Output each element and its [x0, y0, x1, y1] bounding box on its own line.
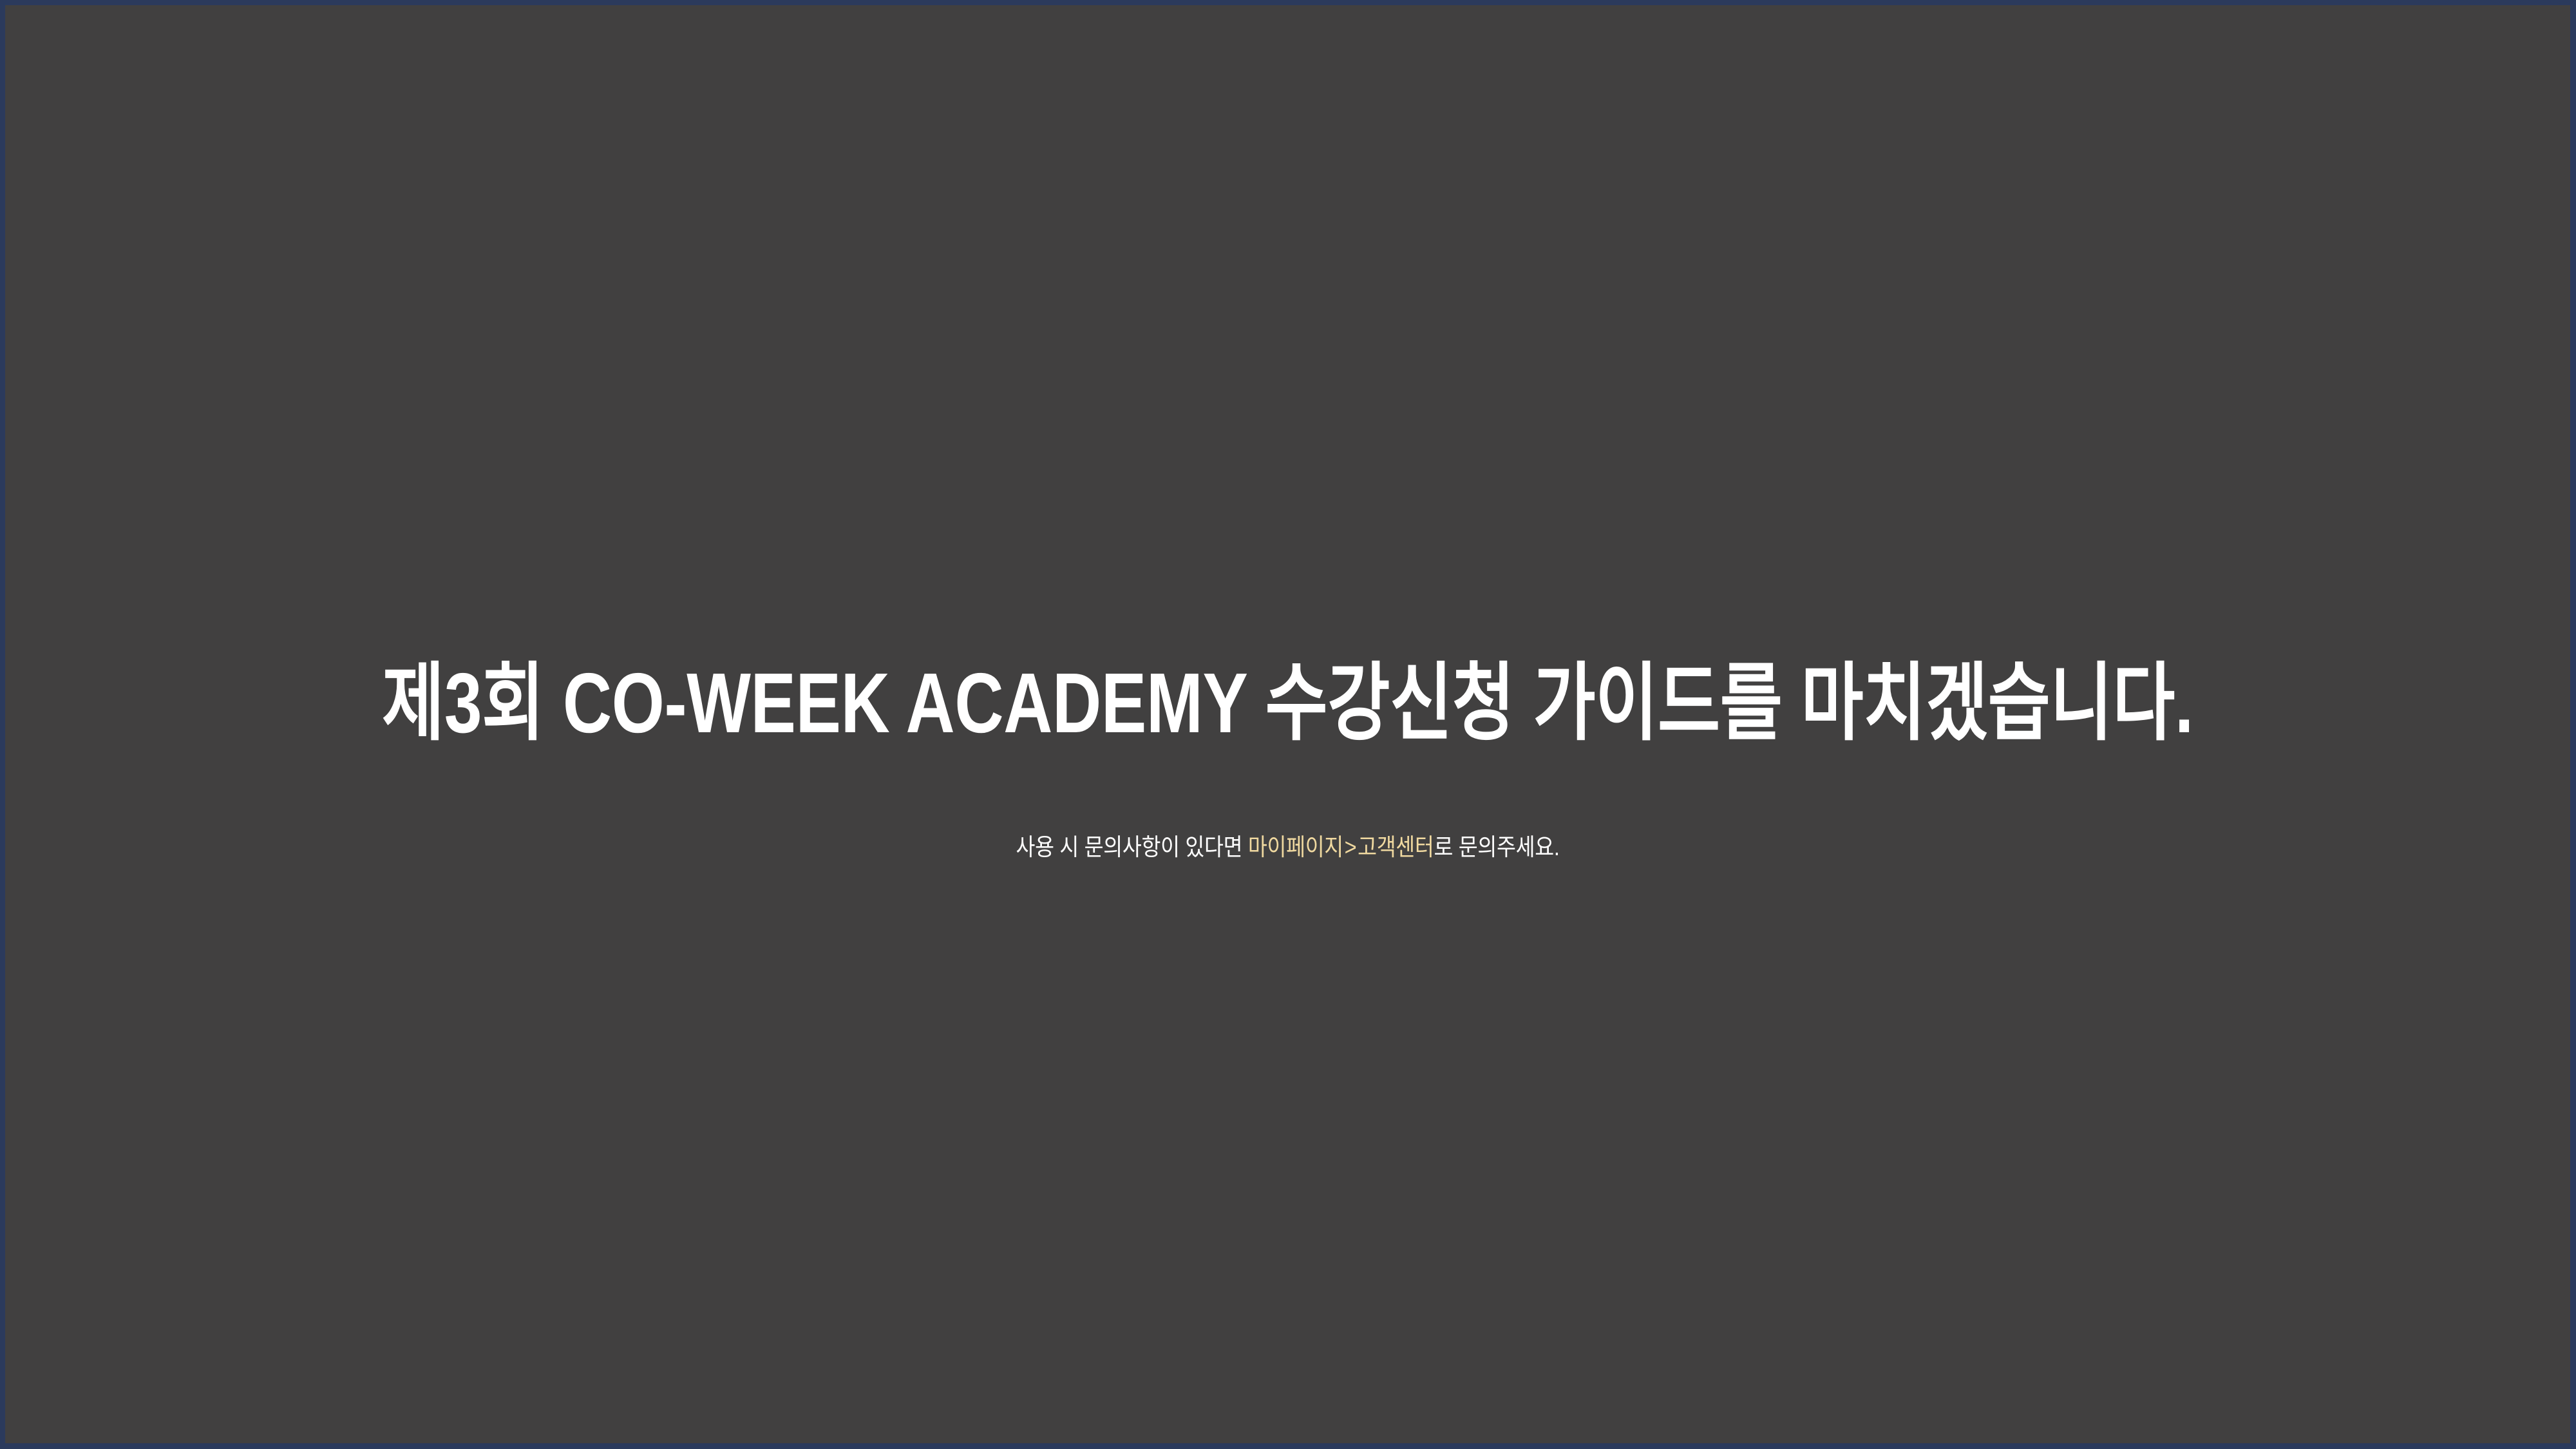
- mypage-link[interactable]: 마이페이지: [1248, 834, 1343, 860]
- closing-content-block: 제3회 CO-WEEK ACADEMY 수강신청 가이드를 마치겠습니다. 사용…: [5, 650, 2570, 863]
- chevron-right-icon: >: [1343, 834, 1358, 860]
- customer-center-link[interactable]: 고객센터: [1358, 834, 1434, 860]
- subtitle-lead-text: 사용 시 문의사항이 있다면: [1016, 834, 1247, 860]
- slide-frame: 제3회 CO-WEEK ACADEMY 수강신청 가이드를 마치겠습니다. 사용…: [0, 0, 2576, 1449]
- subtitle-trail-text: 로 문의주세요.: [1434, 834, 1560, 860]
- closing-subtitle: 사용 시 문의사항이 있다면 마이페이지>고객센터로 문의주세요.: [159, 756, 2416, 863]
- closing-title: 제3회 CO-WEEK ACADEMY 수강신청 가이드를 마치겠습니다.: [261, 650, 2313, 756]
- slide-canvas: 제3회 CO-WEEK ACADEMY 수강신청 가이드를 마치겠습니다. 사용…: [5, 5, 2570, 1443]
